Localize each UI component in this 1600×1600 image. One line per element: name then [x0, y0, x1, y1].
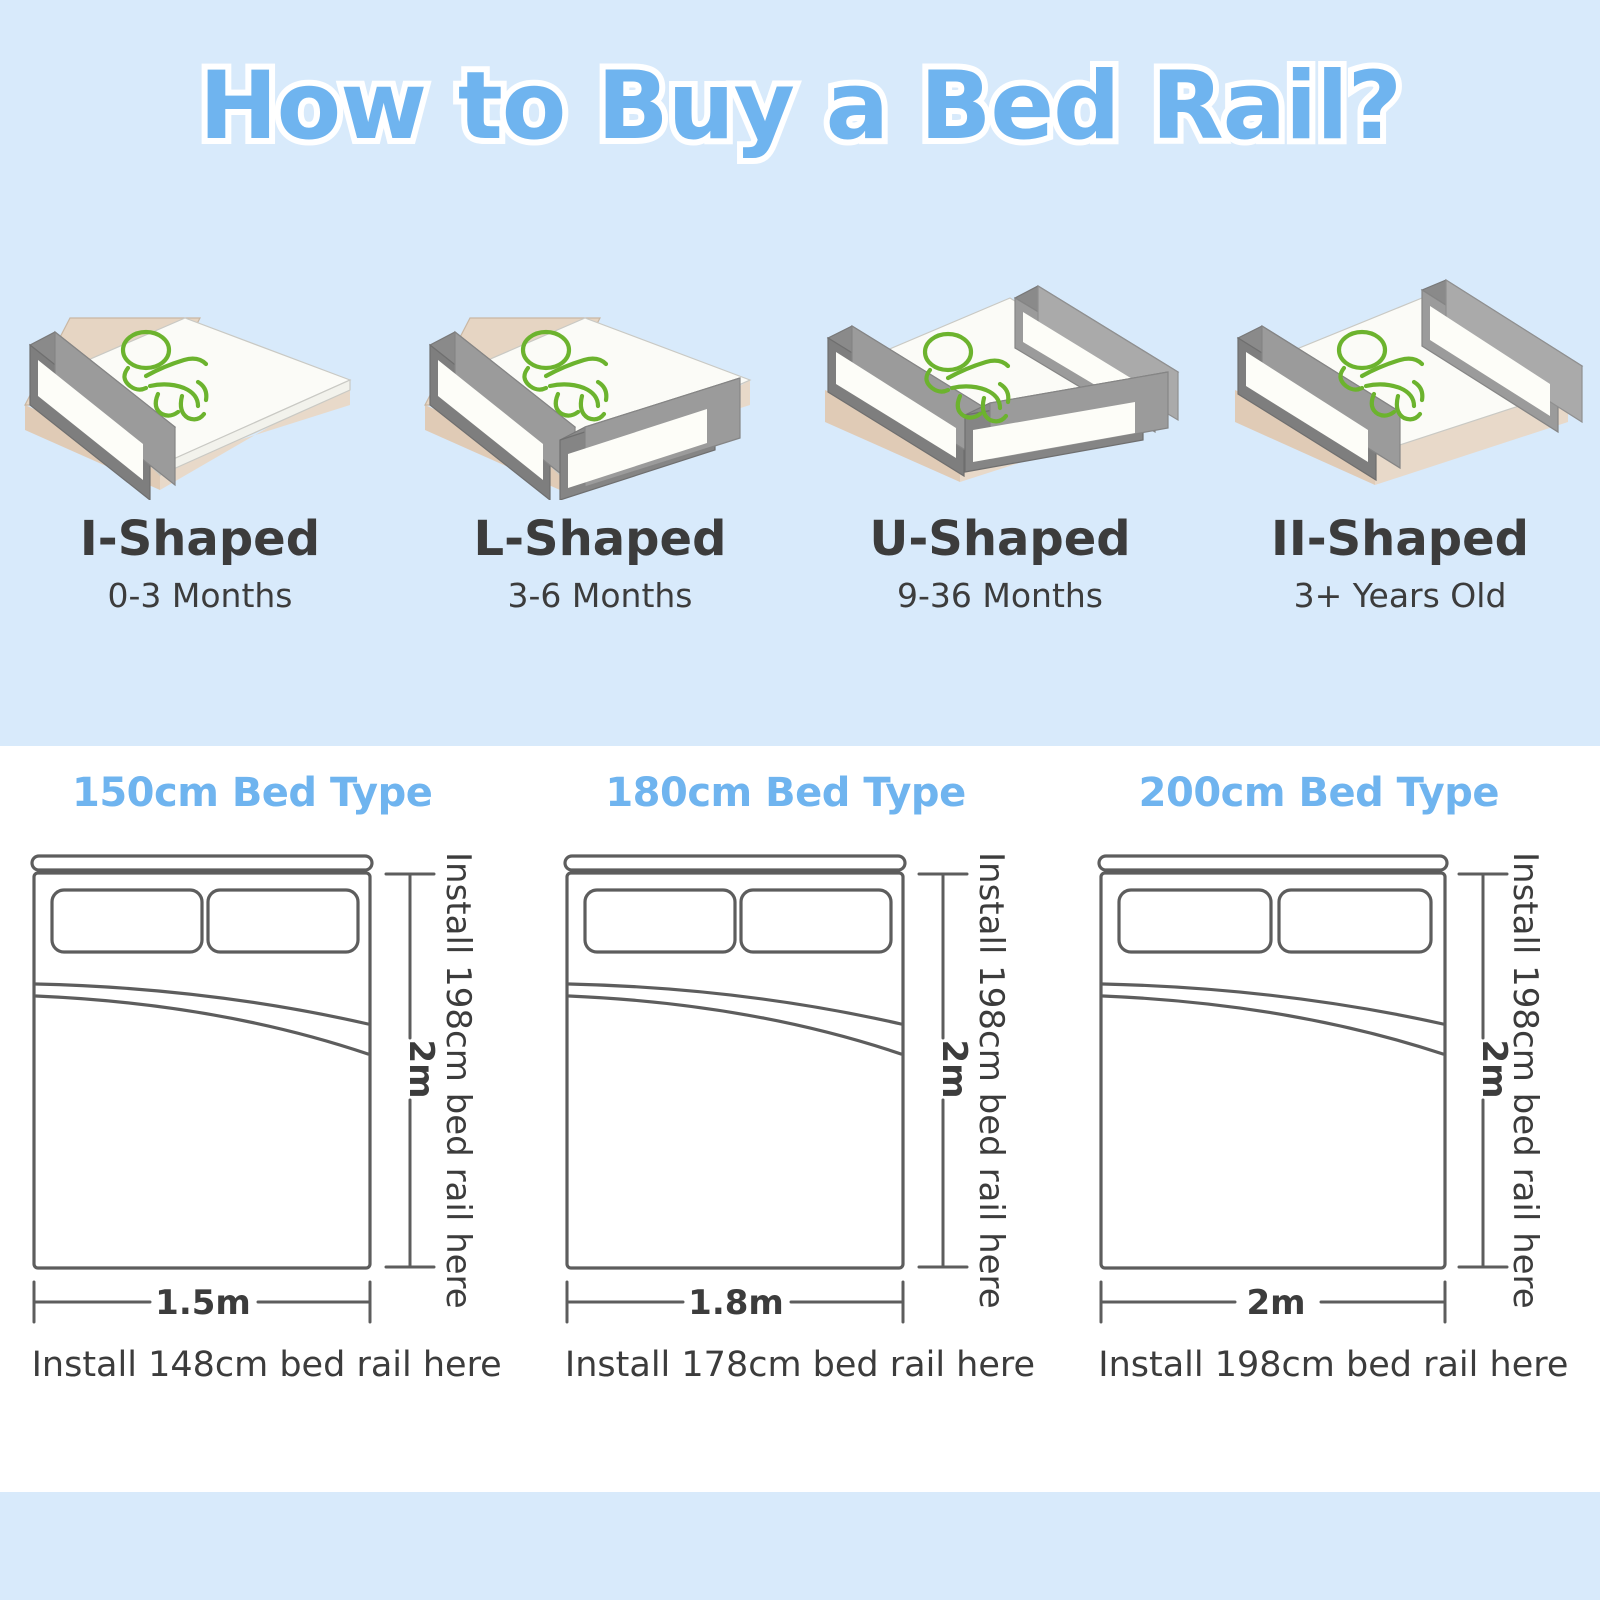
rail-shape-row: I-Shaped 0-3 Months [0, 250, 1600, 650]
shape-age-label: 3+ Years Old [1294, 576, 1507, 615]
bed-type-row: 150cm Bed Type [0, 770, 1600, 1430]
rail-shape-card-i[interactable]: I-Shaped 0-3 Months [0, 250, 400, 650]
bed-type-card-150[interactable]: 150cm Bed Type [0, 770, 533, 1430]
bed-height-label: 2m [934, 1039, 974, 1098]
bed-type-heading: 150cm Bed Type [72, 770, 432, 816]
bed-topdown-icon-200: 2m 2m [1077, 838, 1577, 1338]
bed-width-label: 2m [1246, 1283, 1305, 1323]
bed-type-heading: 180cm Bed Type [605, 770, 965, 816]
bed-type-card-200[interactable]: 200cm Bed Type 2m [1067, 770, 1600, 1430]
shape-name-label: II-Shaped [1271, 514, 1529, 564]
bottom-install-note-row: Install 148cm bed rail here Install 178c… [0, 1345, 1600, 1405]
bed-width-label: 1.5m [155, 1283, 251, 1323]
side-install-note: Install 198cm bed rail here [971, 852, 1011, 1309]
shape-age-label: 9-36 Months [897, 576, 1103, 615]
rail-shape-card-u[interactable]: U-Shaped 9-36 Months [800, 250, 1200, 650]
bed-illustration-u-shaped [810, 250, 1190, 500]
bottom-install-note-180: Install 178cm bed rail here [533, 1345, 1066, 1405]
bed-illustration-i-shaped [10, 250, 390, 500]
shape-age-label: 3-6 Months [507, 576, 692, 615]
bed-type-card-180[interactable]: 180cm Bed Type 2m [533, 770, 1066, 1430]
bed-width-label: 1.8m [688, 1283, 784, 1323]
rail-shape-card-ii[interactable]: II-Shaped 3+ Years Old [1200, 250, 1600, 650]
bed-illustration-l-shaped [410, 250, 790, 500]
shape-name-label: U-Shaped [869, 514, 1130, 564]
rail-shape-card-l[interactable]: L-Shaped 3-6 Months [400, 250, 800, 650]
page-title: How to Buy a Bed Rail? [0, 52, 1600, 161]
bed-topdown-icon-180: 2m 1.8m [543, 838, 1043, 1338]
bottom-section-background [0, 1492, 1600, 1600]
bottom-install-note-150: Install 148cm bed rail here [0, 1345, 533, 1405]
shape-age-label: 0-3 Months [107, 576, 292, 615]
side-install-note: Install 198cm bed rail here [438, 852, 478, 1309]
bed-illustration-ii-shaped [1210, 250, 1590, 500]
shape-name-label: L-Shaped [474, 514, 727, 564]
bottom-install-note-200: Install 198cm bed rail here [1067, 1345, 1600, 1405]
bed-topdown-icon-150: 2m 1.5m [10, 838, 510, 1338]
shape-name-label: I-Shaped [80, 514, 320, 564]
bed-type-heading: 200cm Bed Type [1139, 770, 1499, 816]
side-install-note: Install 198cm bed rail here [1505, 852, 1545, 1309]
bed-height-label: 2m [401, 1039, 441, 1098]
